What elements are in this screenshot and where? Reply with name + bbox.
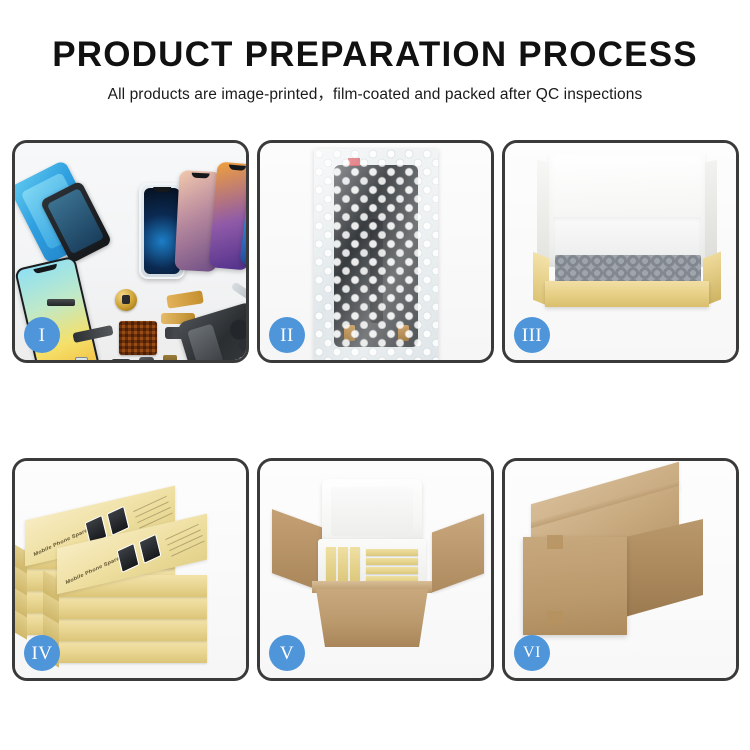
carton-front-face bbox=[523, 537, 627, 635]
carton-tape-patch-top bbox=[547, 535, 563, 549]
foam-sheet-icon bbox=[553, 217, 701, 259]
step-badge-6: VI bbox=[514, 635, 550, 671]
page-subtitle: All products are image-printed，film-coat… bbox=[0, 85, 750, 105]
notch-icon bbox=[153, 187, 171, 192]
step-panel-1: I bbox=[12, 140, 249, 363]
step-panel-3: III bbox=[502, 140, 739, 363]
step-panel-5: V bbox=[257, 458, 494, 681]
notch-icon bbox=[191, 173, 209, 179]
notch-icon bbox=[33, 264, 58, 274]
foam-box-icon bbox=[318, 539, 426, 587]
box-front-panel-icon bbox=[545, 281, 709, 307]
bubble-wrap-bag-icon bbox=[314, 149, 438, 360]
carton-tape-patch-bottom bbox=[547, 611, 563, 625]
screw-icon-1 bbox=[239, 357, 244, 360]
product-preparation-infographic: PRODUCT PREPARATION PROCESS All products… bbox=[0, 0, 750, 750]
process-steps-grid: I II bbox=[12, 140, 738, 685]
step-panel-2: II bbox=[257, 140, 494, 363]
step-badge-5: V bbox=[269, 635, 305, 671]
plastic-sheen bbox=[314, 149, 438, 360]
carton-body-icon bbox=[316, 589, 428, 647]
step-badge-1: I bbox=[24, 317, 60, 353]
copper-coil-icon bbox=[115, 289, 137, 311]
speaker-module-icon bbox=[111, 359, 131, 360]
chip-grid-icon bbox=[119, 321, 157, 355]
camera-module-icon bbox=[139, 357, 154, 360]
notch-icon bbox=[229, 164, 246, 170]
step-badge-2: II bbox=[269, 317, 305, 353]
product-thumbnail-icon-4 bbox=[139, 534, 162, 564]
header: PRODUCT PREPARATION PROCESS All products… bbox=[0, 0, 750, 105]
step-badge-4: IV bbox=[24, 635, 60, 671]
foam-box-lid-icon bbox=[322, 479, 422, 545]
connector-icon bbox=[163, 355, 177, 360]
page-title: PRODUCT PREPARATION PROCESS bbox=[0, 34, 750, 76]
component-bar-icon bbox=[47, 299, 75, 306]
step-panel-6: VI bbox=[502, 458, 739, 681]
button-part-icon bbox=[75, 357, 88, 360]
step-badge-3: III bbox=[514, 317, 550, 353]
product-thumbnail-icon-3 bbox=[117, 543, 140, 573]
step-panel-4: Mobile Phone Spare Parts bbox=[12, 458, 249, 681]
